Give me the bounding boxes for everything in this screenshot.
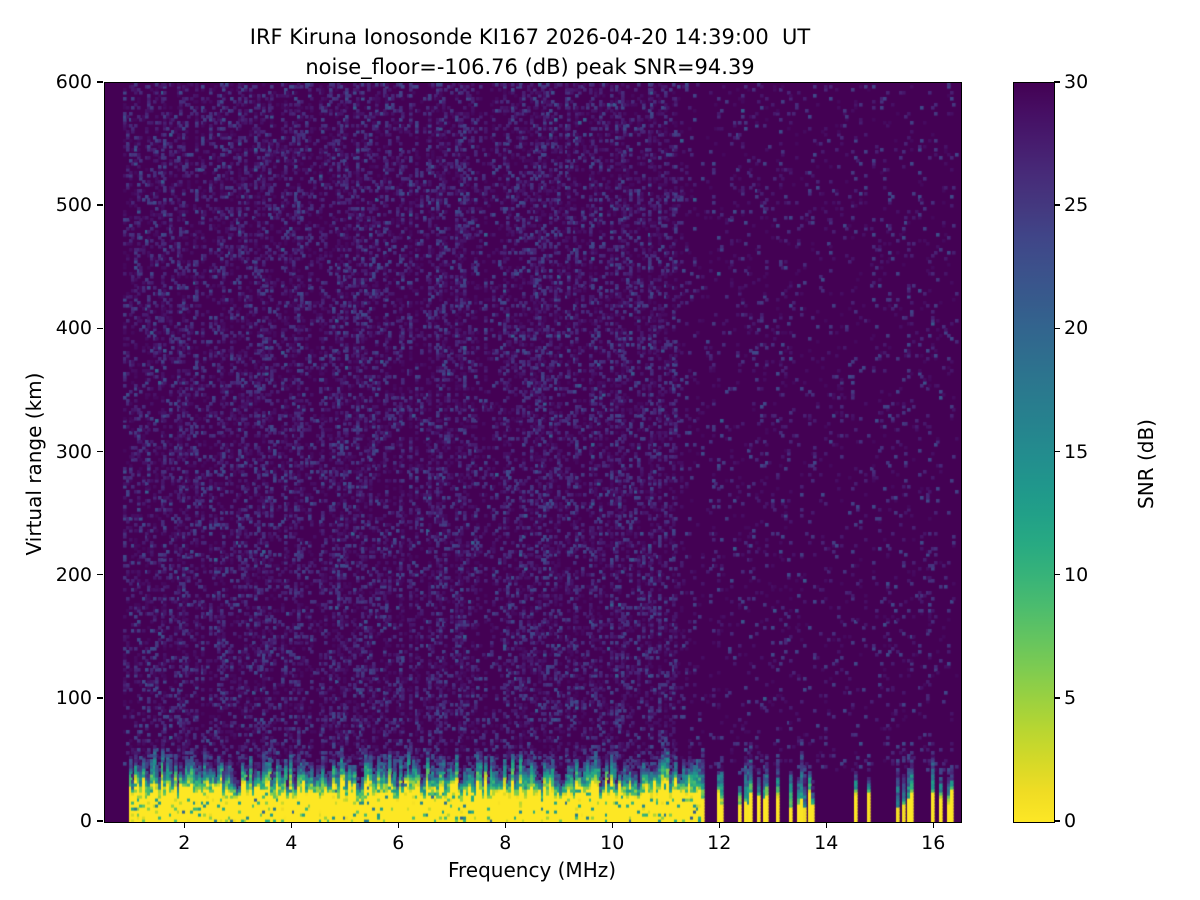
colorbar-tick-label-20: 20 <box>1064 317 1088 339</box>
x-tick-label-2: 2 <box>178 832 190 854</box>
y-tick-mark-500 <box>97 204 103 205</box>
y-tick-mark-300 <box>97 451 103 452</box>
x-tick-mark-10 <box>612 822 613 828</box>
y-tick-mark-0 <box>97 820 103 821</box>
y-tick-label-0: 0 <box>8 810 92 832</box>
colorbar-tick-mark-30 <box>1054 81 1060 82</box>
x-tick-mark-8 <box>505 822 506 828</box>
x-tick-mark-14 <box>826 822 827 828</box>
y-tick-mark-400 <box>97 328 103 329</box>
x-tick-mark-4 <box>291 822 292 828</box>
colorbar-tick-label-25: 25 <box>1064 194 1088 216</box>
x-tick-label-8: 8 <box>499 832 511 854</box>
y-tick-mark-200 <box>97 574 103 575</box>
x-tick-mark-12 <box>719 822 720 828</box>
title-line-2: noise_floor=-106.76 (dB) peak SNR=94.39 <box>0 52 1060 82</box>
x-tick-label-6: 6 <box>392 832 404 854</box>
colorbar-gradient <box>1014 83 1054 822</box>
y-tick-label-100: 100 <box>8 687 92 709</box>
colorbar-tick-label-30: 30 <box>1064 71 1088 93</box>
colorbar-tick-mark-25 <box>1054 204 1060 205</box>
y-tick-label-500: 500 <box>8 194 92 216</box>
x-tick-label-16: 16 <box>921 832 945 854</box>
colorbar-tick-mark-5 <box>1054 697 1060 698</box>
x-tick-label-14: 14 <box>814 832 838 854</box>
ionogram-plot-area <box>104 82 962 823</box>
colorbar-tick-mark-20 <box>1054 328 1060 329</box>
title-line-1: IRF Kiruna Ionosonde KI167 2026-04-20 14… <box>0 22 1060 52</box>
x-tick-mark-2 <box>184 822 185 828</box>
y-tick-label-300: 300 <box>8 441 92 463</box>
colorbar-tick-label-0: 0 <box>1064 810 1076 832</box>
ionogram-heatmap <box>105 83 961 822</box>
colorbar-label: SNR (dB) <box>1134 334 1158 594</box>
y-axis-label: Virtual range (km) <box>22 334 46 594</box>
x-tick-mark-16 <box>933 822 934 828</box>
y-tick-label-600: 600 <box>8 71 92 93</box>
ionogram-figure: IRF Kiruna Ionosonde KI167 2026-04-20 14… <box>0 0 1200 900</box>
colorbar-tick-label-5: 5 <box>1064 687 1076 709</box>
y-tick-mark-100 <box>97 697 103 698</box>
colorbar-tick-mark-10 <box>1054 574 1060 575</box>
x-tick-label-4: 4 <box>285 832 297 854</box>
x-tick-label-10: 10 <box>600 832 624 854</box>
colorbar-tick-label-10: 10 <box>1064 564 1088 586</box>
x-tick-label-12: 12 <box>707 832 731 854</box>
x-tick-mark-6 <box>398 822 399 828</box>
colorbar <box>1013 82 1055 823</box>
y-tick-label-400: 400 <box>8 317 92 339</box>
x-axis-label: Frequency (MHz) <box>104 858 960 882</box>
y-tick-label-200: 200 <box>8 564 92 586</box>
colorbar-tick-mark-0 <box>1054 820 1060 821</box>
colorbar-tick-label-15: 15 <box>1064 441 1088 463</box>
colorbar-tick-mark-15 <box>1054 451 1060 452</box>
y-tick-mark-600 <box>97 81 103 82</box>
figure-title: IRF Kiruna Ionosonde KI167 2026-04-20 14… <box>0 22 1060 82</box>
